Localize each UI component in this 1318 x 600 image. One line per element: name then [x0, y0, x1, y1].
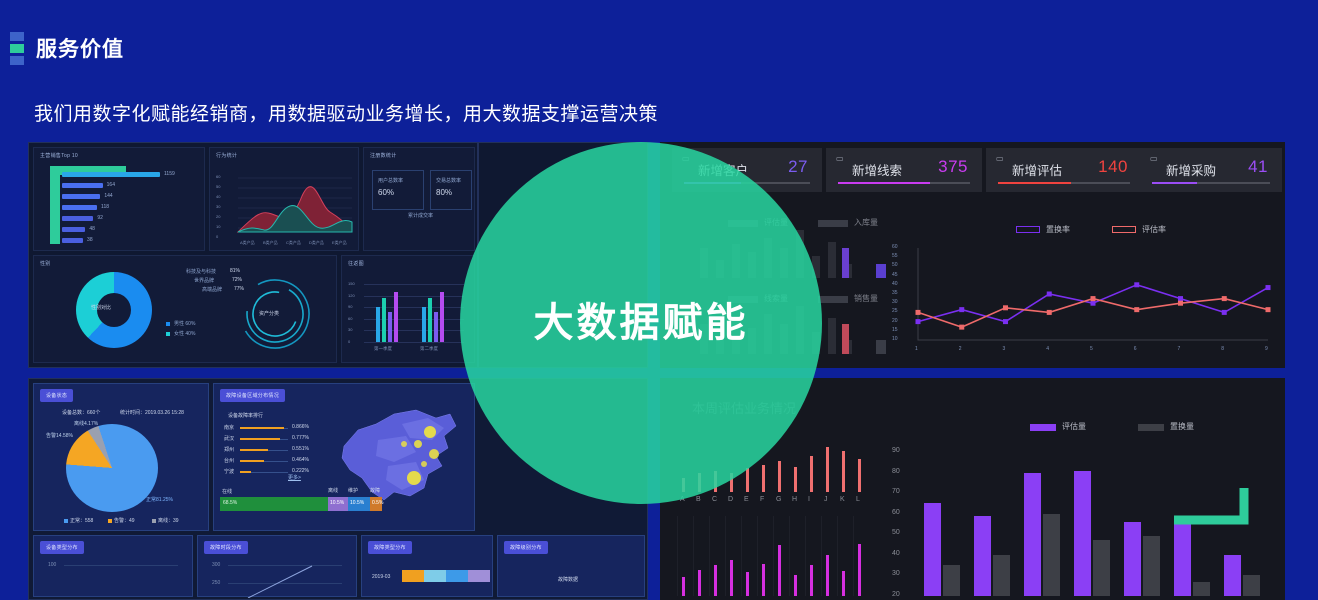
thin-top-bar-12: [858, 459, 861, 492]
trend-area-svg: [210, 170, 360, 248]
status-value-3: 0.5%: [372, 500, 383, 506]
device-status-pie-circle: [66, 424, 158, 512]
quarter-bar-panel[interactable]: 往返图 0306090120150第一季度第二季度: [341, 255, 475, 363]
fault-rate-1: 0.866%: [292, 424, 309, 430]
thin-top-bar-6: [762, 465, 765, 492]
thin-bot-bar-10: [826, 555, 829, 596]
thin-xlabel-J: J: [824, 496, 828, 503]
thin-xlabel-K: K: [840, 496, 845, 503]
gauge-left-box: 用户总数率 60%: [372, 170, 424, 210]
registry-title: 注册数统计: [370, 152, 397, 159]
thin-xlabel-F: F: [760, 496, 764, 503]
bar-ytick-40: 40: [892, 550, 900, 557]
thin-bot-bar-4: [730, 560, 733, 596]
area-ytick-50: 50: [216, 184, 220, 189]
status-value-1: 10.5%: [330, 500, 344, 506]
header-accent-icon: [10, 32, 24, 66]
page-subtitle: 我们用数字化赋能经销商，用数据驱动业务增长，用大数据支撑运营决策: [34, 99, 658, 126]
fault-city-3: 郑州: [224, 446, 234, 453]
kpi-value-3: 140: [1098, 157, 1128, 177]
rate-line-chart[interactable]: 1015202530354045505560123456789置换率评估率: [888, 222, 1276, 360]
bar-ytick-30: 30: [892, 570, 900, 577]
bottom-panel-badge-2[interactable]: 故障时段分布: [204, 541, 248, 554]
thin-sep-7: [773, 516, 774, 596]
kpi-card-3[interactable]: ▭新增评估140: [986, 148, 1142, 192]
accent-bar-top: [10, 32, 24, 41]
quarter-ytick-0: 0: [348, 339, 350, 344]
thin-bot-bar-9: [810, 565, 813, 596]
bottom-panel-4[interactable]: 故障级别分布故障数据: [497, 535, 645, 597]
rank-value-5: 92: [97, 215, 103, 221]
thin-bot-bar-11: [842, 571, 845, 596]
bottom-panel-ymax-2: 300: [212, 562, 220, 568]
fault-rate-4: 0.464%: [292, 457, 309, 463]
gauge-center-label: 累计成交率: [408, 212, 433, 219]
gauge-left-label: 用户总数率: [378, 177, 403, 184]
bar-置换量-6: [1193, 582, 1210, 596]
bar-评估量-3: [1024, 473, 1041, 596]
green-accent-corner: [1166, 486, 1286, 566]
thin-top-bar-8: [794, 467, 797, 492]
asset-value-2: 72%: [232, 277, 242, 283]
page-header: 服务价值: [0, 0, 1318, 88]
quarter-bar-1-1: [376, 307, 380, 342]
fault-bar-4: [240, 460, 264, 462]
fault-bar-rest-3: [268, 450, 288, 451]
status-seg-2: 10.5%: [348, 497, 370, 511]
mid-bar-1-9: [828, 242, 836, 278]
thin-sep-12: [853, 516, 854, 596]
kpi-value-4: 41: [1248, 157, 1268, 177]
gauge-left-value: 60%: [378, 188, 394, 197]
bottom-panel-grid-1: [64, 565, 178, 566]
area-xlabel-5: E类产品: [332, 240, 347, 246]
fault-bar-1: [240, 427, 284, 429]
device-status-panel[interactable]: 设备状态 设备总数：660个 统计时间：2019.03.26 15:28 离线4…: [33, 383, 209, 531]
bottom-panel-2[interactable]: 故障时段分布300250: [197, 535, 357, 597]
map-list-title: 设备故障率排行: [228, 412, 263, 419]
quarter-ytick-30: 30: [348, 327, 352, 332]
rank-bar-3: [62, 194, 100, 199]
device-legend-label-2: 告警：49: [114, 517, 135, 524]
kpi-card-4[interactable]: ▭新增采购41: [1140, 148, 1282, 192]
thin-sep-5: [741, 516, 742, 596]
thin-bot-bar-5: [746, 572, 749, 596]
bottom-panel-date-3: 2019-03: [372, 574, 390, 580]
bar-评估量-2: [974, 516, 991, 596]
map-panel[interactable]: 故障设备区域分布情况 设备故障率排行 南京0.866%武汉0.777%郑州0.5…: [213, 383, 475, 531]
thin-xlabel-B: B: [696, 496, 701, 503]
status-value-2: 10.5%: [350, 500, 364, 506]
area-ytick-60: 60: [216, 174, 220, 179]
fault-city-1: 南京: [224, 424, 234, 431]
thin-sep-1: [677, 516, 678, 596]
quarter-panel-title: 往返图: [348, 260, 364, 267]
accent-bar-bot: [10, 56, 24, 65]
thin-sep-6: [757, 516, 758, 596]
gender-panel-title: 性别: [40, 260, 51, 267]
fault-city-2: 武汉: [224, 435, 234, 442]
thin-bot-bar-3: [714, 565, 717, 596]
thin-sep-10: [821, 516, 822, 596]
device-pct-normal: 正常81.25%: [146, 496, 173, 503]
asset-label-3: 高端品牌: [202, 286, 222, 293]
kpi-progress-fill-4: [1152, 182, 1197, 184]
kpi-progress-fill-3: [998, 182, 1071, 184]
thin-bot-bar-6: [762, 564, 765, 596]
thin-xlabel-E: E: [744, 496, 749, 503]
big-data-overlay-label: 大数据赋能: [460, 290, 822, 348]
quarter-xlabel-2: 第二季度: [420, 346, 438, 352]
bottom-panel-ymax-1: 100: [48, 562, 56, 568]
asset-label-2: 世界品牌: [194, 277, 214, 284]
quarter-bar-2-3: [434, 312, 438, 342]
quarter-bar-2-4: [440, 292, 444, 342]
rank-bar-6: [62, 227, 85, 232]
fault-bar-2: [240, 438, 280, 440]
bar-置换量-2: [993, 555, 1010, 596]
bottom-panel-swatch-3: [446, 570, 468, 582]
area-ytick-20: 20: [216, 214, 220, 219]
fault-bar-3: [240, 449, 268, 451]
accent-bar-mid: [10, 44, 24, 53]
rank-bar-1: [62, 172, 160, 177]
kpi-progress-4: [1152, 182, 1270, 184]
kpi-note-icon: ▭: [996, 154, 1004, 163]
gender-legend-dot-male: [166, 322, 170, 326]
device-legend-dot-2: [108, 519, 112, 523]
mid-bar-hi2-1: [876, 264, 886, 278]
map-badge[interactable]: 故障设备区域分布情况: [220, 389, 285, 402]
gender-donut-ring: [76, 272, 152, 348]
fault-bar-rest-4: [264, 461, 288, 462]
thin-top-bar-5: [746, 468, 749, 492]
fault-rate-3: 0.551%: [292, 446, 309, 452]
thin-top-bar-9: [810, 456, 813, 492]
bar-legend-label-置换量: 置换量: [1170, 421, 1194, 432]
registry-panel[interactable]: 注册数统计 用户总数率 60% 交易总数率 80% 累计成交率: [363, 147, 475, 251]
thin-sep-11: [837, 516, 838, 596]
mid-bar-2-9: [828, 318, 836, 354]
status-label-1: 离线: [328, 487, 338, 494]
quarter-ytick-150: 150: [348, 281, 355, 286]
bottom-panel-badge-3[interactable]: 故障类型分布: [368, 541, 412, 554]
kpi-progress-fill-2: [838, 182, 930, 184]
quarter-ytick-60: 60: [348, 316, 352, 321]
thin-bot-bar-7: [778, 545, 781, 596]
quarter-xlabel-1: 第一季度: [374, 346, 392, 352]
quarter-bar-1-2: [382, 298, 386, 342]
bottom-panel-swatch-1: [402, 570, 424, 582]
device-status-badge[interactable]: 设备状态: [40, 389, 73, 402]
kpi-progress-3: [998, 182, 1130, 184]
rank-value-7: 38: [87, 237, 93, 243]
status-online-value: 68.5%: [223, 500, 237, 506]
thin-sep-8: [789, 516, 790, 596]
quarter-gridline-0: [364, 342, 464, 343]
bar-legend-swatch-置换量[interactable]: [1138, 424, 1164, 431]
bottom-panel-3[interactable]: 故障类型分布2019-03: [361, 535, 493, 597]
fault-rate-2: 0.777%: [292, 435, 309, 441]
trend-area-title: 行为统计: [216, 152, 237, 159]
kpi-label-2: 新增线索: [852, 160, 902, 179]
bottom-panel-badge-1[interactable]: 设备类型分布: [40, 541, 84, 554]
gender-legend-male: 男性 60%: [174, 320, 195, 327]
bar-置换量-4: [1093, 540, 1110, 596]
fault-city-5: 宁波: [224, 468, 234, 475]
area-xlabel-2: B类产品: [263, 240, 278, 246]
bar-评估量-5: [1124, 522, 1141, 596]
rank-value-3: 144: [104, 193, 112, 199]
thin-sep-4: [725, 516, 726, 596]
rank-value-6: 48: [89, 226, 95, 232]
gauge-right-box: 交易总数率 80%: [430, 170, 472, 210]
top10-rank-panel[interactable]: 主营销售Top 10 1159164144118924838: [33, 147, 205, 251]
gender-legend-female: 女性 40%: [174, 330, 195, 337]
quarter-bar-2-1: [422, 307, 426, 342]
status-seg-online: 68.5%: [220, 497, 328, 511]
bottom-panel-badge-4[interactable]: 故障级别分布: [504, 541, 548, 554]
quarter-bar-1-4: [394, 292, 398, 342]
rank-bar-5: [62, 216, 93, 221]
area-xlabel-4: D类产品: [309, 240, 324, 246]
trend-area-panel[interactable]: 行为统计 A类产品B类产品C类产品D类产品E类产品0102030405060: [209, 147, 359, 251]
gender-legend-dot-female: [166, 332, 170, 336]
thin-bot-bar-8: [794, 575, 797, 596]
thin-sep-9: [805, 516, 806, 596]
kpi-value-2: 375: [938, 157, 968, 177]
thin-xlabel-H: H: [792, 496, 797, 503]
status-seg-3: 0.5%: [370, 497, 382, 511]
device-legend-label-1: 正常：558: [70, 517, 93, 524]
thin-bot-bar-12: [858, 544, 861, 596]
quarter-gridline-150: [364, 284, 464, 285]
bar-ytick-70: 70: [892, 488, 900, 495]
mid-bar-hi-1: [842, 248, 849, 278]
thin-bot-bar-1: [682, 577, 685, 596]
mid-legend-swatch-b-1: [818, 220, 848, 227]
bottom-panel-swatch-4: [468, 570, 490, 582]
quarter-bar-2-2: [428, 298, 432, 342]
bottom-panel-label-4: 故障数据: [558, 576, 578, 583]
online-label: 在线: [222, 488, 232, 495]
status-label-2: 维护: [348, 487, 358, 494]
bar-ytick-50: 50: [892, 529, 900, 536]
thin-top-bar-7: [778, 461, 781, 492]
bar-评估量-4: [1074, 471, 1091, 596]
thin-xlabel-D: D: [728, 496, 733, 503]
rank-value-1: 1159: [164, 171, 175, 177]
rank-value-2: 164: [107, 182, 115, 188]
gender-donut-panel[interactable]: 性别 性别对比 男性 60% 女性 40% 资产分类 科技及与科技81%世界品牌…: [33, 255, 337, 363]
area-ytick-30: 30: [216, 204, 220, 209]
area-ytick-0: 0: [216, 234, 218, 239]
line-chart-svg: [888, 222, 1276, 360]
thin-bot-bar-2: [698, 570, 701, 596]
gauge-right-value: 80%: [436, 188, 452, 197]
bar-评估量-1: [924, 503, 941, 596]
fault-bar-rest-2: [280, 439, 288, 440]
device-time-text: 统计时间：2019.03.26 15:28: [120, 409, 184, 416]
kpi-monitor-icon: ▭: [1150, 154, 1158, 163]
status-seg-1: 10.5%: [328, 497, 348, 511]
bottom-panel-swatch-2: [424, 570, 446, 582]
kpi-card-2[interactable]: ▭新增线索375: [826, 148, 982, 192]
fault-bar-rest-1: [284, 428, 288, 429]
thin-xlabel-C: C: [712, 496, 717, 503]
fault-city-4: 台州: [224, 457, 234, 464]
bar-置换量-5: [1143, 536, 1160, 596]
thin-xlabel-I: I: [808, 496, 810, 503]
bottom-panel-ymid-2: 250: [212, 580, 220, 586]
gauge-right-label: 交易总数率: [436, 177, 461, 184]
rank-accent-vert: [50, 166, 60, 244]
bar-ytick-20: 20: [892, 591, 900, 598]
rank-bar-4: [62, 205, 97, 210]
bar-legend-swatch-评估量[interactable]: [1030, 424, 1056, 431]
device-legend-dot-1: [64, 519, 68, 523]
asset-label-1: 科技及与科技: [186, 268, 216, 275]
area-ytick-10: 10: [216, 224, 220, 229]
mid-legend-swatch-b-2: [818, 296, 848, 303]
device-legend-dot-3: [152, 519, 156, 523]
fault-bar-rest-5: [251, 472, 288, 473]
kpi-label-3: 新增评估: [1012, 160, 1062, 179]
device-legend-label-3: 离线：39: [158, 517, 179, 524]
quarter-ytick-120: 120: [348, 293, 355, 298]
bar-ytick-60: 60: [892, 509, 900, 516]
asset-value-1: 81%: [230, 268, 240, 274]
bar-置换量-1: [943, 565, 960, 596]
device-pct-warn: 告警14.58%: [46, 432, 73, 439]
page-title: 服务价值: [36, 33, 124, 63]
thin-xlabel-G: G: [776, 496, 781, 503]
left-top-dashboard: 主营销售Top 10 1159164144118924838 行为统计 A类产品…: [28, 142, 478, 368]
thin-xlabel-L: L: [856, 496, 860, 503]
area-ytick-40: 40: [216, 194, 220, 199]
mid-bar-hi2-2: [876, 340, 886, 354]
mid-legend-label-b-2: 销售量: [854, 293, 878, 304]
thin-top-bar-10: [826, 447, 829, 492]
mid-legend-label-b-1: 入库量: [854, 217, 878, 228]
bar-legend-label-评估量: 评估量: [1062, 421, 1086, 432]
rank-bar-2: [62, 183, 103, 188]
kpi-document-icon: ▭: [836, 154, 844, 163]
device-total-text: 设备总数：660个: [62, 409, 100, 416]
area-xlabel-1: A类产品: [240, 240, 255, 246]
asset-center-label: 资产分类: [259, 310, 279, 317]
status-label-3: 故障: [370, 487, 380, 494]
device-pct-offline: 离线4.17%: [74, 420, 98, 427]
quarter-gridline-120: [364, 296, 464, 297]
kpi-value-1: 27: [788, 157, 808, 177]
bottom-panel-1[interactable]: 设备类型分布100: [33, 535, 193, 597]
bar-置换量-7: [1243, 575, 1260, 596]
quarter-ytick-90: 90: [348, 304, 352, 309]
kpi-progress-2: [838, 182, 970, 184]
gender-donut-center-label: 性别对比: [91, 304, 111, 311]
kpi-label-4: 新增采购: [1166, 160, 1216, 179]
rank-bar-7: [62, 238, 83, 243]
quarter-bar-1-3: [388, 312, 392, 342]
area-xlabel-3: C类产品: [286, 240, 301, 246]
fault-bar-5: [240, 471, 251, 473]
map-more-link[interactable]: 更多>: [288, 474, 301, 481]
mid-bar-hi-2: [842, 324, 849, 354]
bar-ytick-80: 80: [892, 468, 900, 475]
bottom-panel-trend-line: [242, 564, 332, 598]
asset-value-3: 77%: [234, 286, 244, 292]
thin-top-bar-11: [842, 451, 845, 492]
bar-置换量-3: [1043, 514, 1060, 596]
thin-sep-3: [709, 516, 710, 596]
top10-rank-title: 主营销售Top 10: [40, 152, 78, 159]
bar-ytick-90: 90: [892, 447, 900, 454]
thin-sep-2: [693, 516, 694, 596]
rank-value-4: 118: [101, 204, 109, 210]
